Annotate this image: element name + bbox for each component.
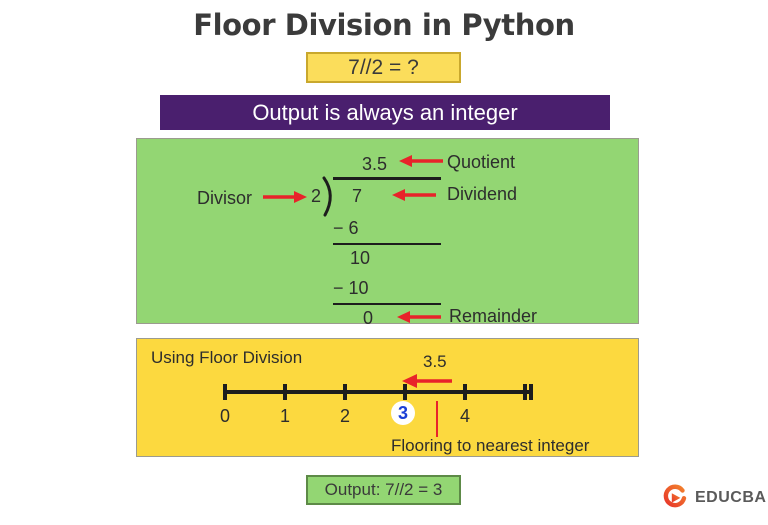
divisor-arrow-icon (263, 189, 307, 205)
number-line-panel: Using Floor Division 3.5 0 1 2 3 4 Floor… (136, 338, 639, 457)
dividend-value: 7 (352, 187, 362, 205)
expression-box: 7//2 = ? (306, 52, 461, 83)
tick-label-0: 0 (220, 407, 230, 425)
tick-label-1: 1 (280, 407, 290, 425)
division-vinculum (333, 177, 441, 180)
tick-label-3-highlighted: 3 (391, 401, 415, 425)
dividend-label: Dividend (447, 185, 517, 203)
division-bracket-icon (323, 177, 339, 217)
number-line-value-label: 3.5 (423, 353, 447, 370)
subtract-step-1: − 6 (333, 219, 359, 237)
educba-logo[interactable]: EDUCBA (660, 482, 765, 514)
educba-logo-text: EDUCBA (695, 489, 766, 507)
banner-text: Output is always an integer (252, 100, 517, 126)
number-line-caption: Flooring to nearest integer (391, 437, 589, 454)
partial-remainder: 10 (350, 249, 370, 267)
subtract-step-2: − 10 (333, 279, 369, 297)
dividend-arrow-icon (392, 187, 436, 203)
long-division-panel: 3.5 Quotient Divisor 2 7 Dividend − 6 10… (136, 138, 639, 324)
output-text: Output: 7//2 = 3 (325, 480, 443, 500)
number-line-axis (219, 381, 539, 403)
number-line-heading: Using Floor Division (151, 349, 302, 366)
quotient-label: Quotient (447, 153, 515, 171)
remainder-value: 0 (363, 309, 373, 327)
page-title: Floor Division in Python (0, 8, 768, 42)
tick-label-2: 2 (340, 407, 350, 425)
quotient-arrow-icon (399, 153, 443, 169)
divisor-value: 2 (311, 187, 321, 205)
division-rule-1 (333, 243, 441, 245)
banner-output-is-integer: Output is always an integer (160, 95, 610, 130)
remainder-label: Remainder (449, 307, 537, 325)
floor-marker-line (436, 401, 438, 437)
divisor-label: Divisor (197, 189, 252, 207)
quotient-value: 3.5 (362, 155, 387, 173)
output-box: Output: 7//2 = 3 (306, 475, 461, 505)
educba-circle-play-icon (660, 483, 690, 513)
tick-label-4: 4 (460, 407, 470, 425)
division-rule-2 (333, 303, 441, 305)
remainder-arrow-icon (397, 309, 441, 325)
expression-text: 7//2 = ? (348, 56, 419, 80)
